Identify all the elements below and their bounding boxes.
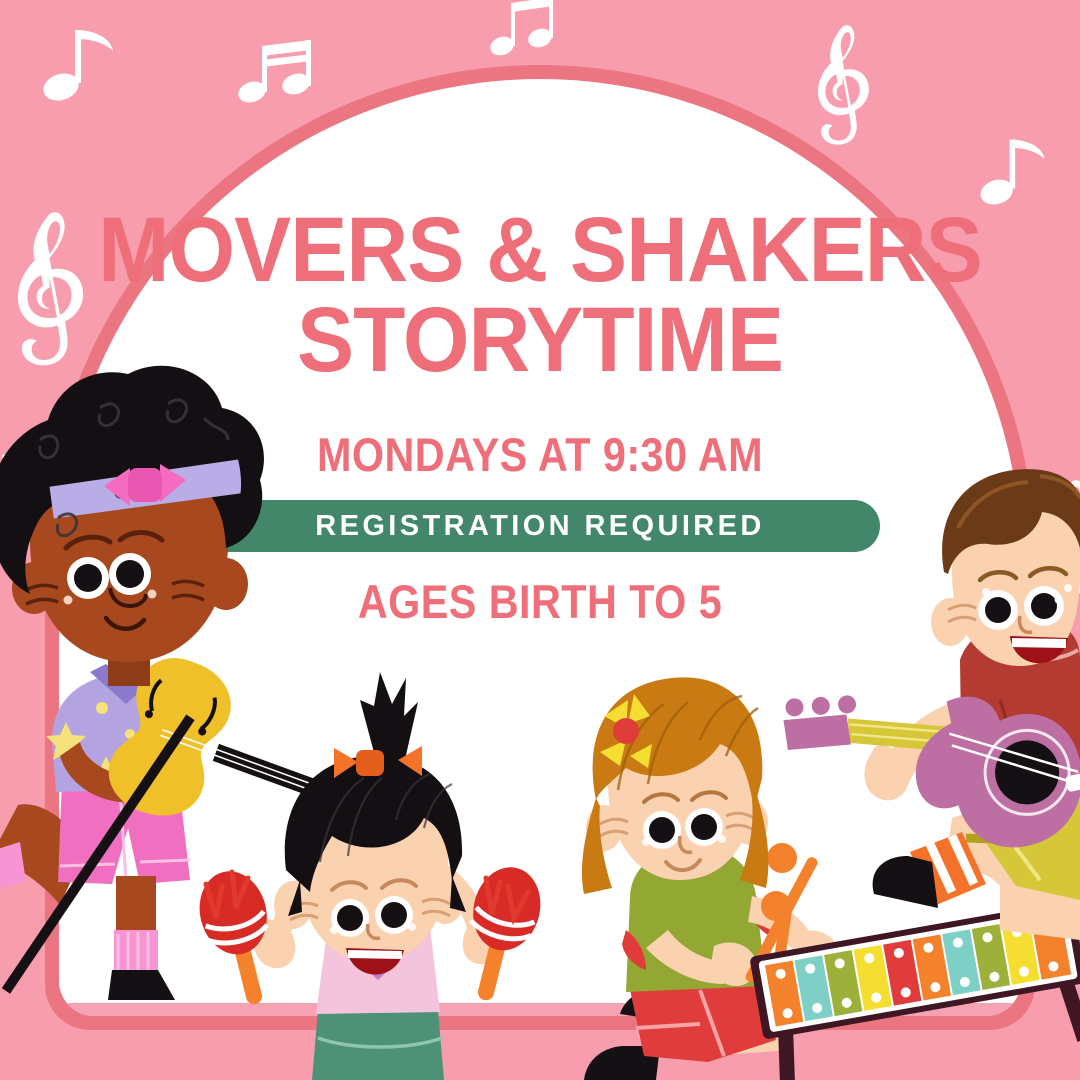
guitar-boy-shoe [873, 856, 938, 908]
poster-canvas: MOVERS & SHAKERS STORYTIME MONDAYS AT 9:… [0, 0, 1080, 1080]
child-with-maracas [191, 672, 549, 1080]
violin-girl-shoe [108, 970, 175, 1000]
maraca-child-shorts [312, 1010, 444, 1080]
violin-girl-ear-right [204, 558, 248, 610]
boy-with-guitar [776, 469, 1080, 940]
characters-layer [0, 0, 1080, 1080]
